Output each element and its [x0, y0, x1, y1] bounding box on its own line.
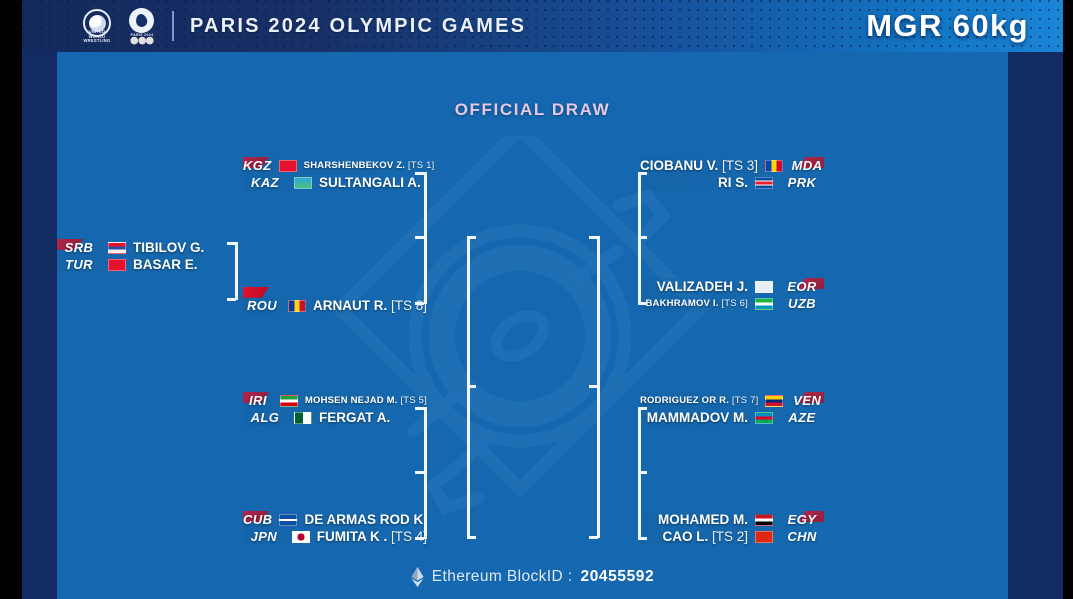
flag-icon [288, 300, 306, 312]
competitor-row[interactable]: EOR VALIZADEH J. [640, 278, 824, 295]
seed-tag: [TS 7] [732, 395, 759, 406]
bracket-connector-tick [467, 236, 476, 239]
olympic-rings-icon: ⚪⚪⚪ [126, 38, 158, 45]
bracket-connector-tick [415, 537, 424, 540]
athlete-name: SULTANGALI A. [319, 175, 421, 190]
footer-blockid: Ethereum BlockID : 20455592 [57, 567, 1008, 587]
bracket-connector-tick [638, 537, 647, 540]
noc-code: IRI [243, 393, 273, 408]
bracket-connector [424, 172, 427, 304]
noc-code: EOR [780, 279, 824, 294]
bracket-connector-tick [415, 407, 424, 410]
match-card-l1[interactable]: KGZ SHARSHENBEKOV Z. [TS 1] KAZ SULTANGA… [243, 157, 427, 191]
athlete-name: ARNAUT R. [313, 298, 387, 313]
bracket-connector-tick [467, 536, 476, 539]
bracket-connector-tick [589, 236, 598, 239]
athlete-name: CAO L. [662, 529, 708, 544]
noc-code: ALG [243, 410, 287, 425]
competitor-row[interactable]: EGY MOHAMED M. [640, 511, 824, 528]
bracket-connector-tick [415, 471, 424, 474]
athlete-name: VALIZADEH J. [657, 279, 748, 294]
athlete-name: DE ARMAS ROD K. [304, 512, 427, 527]
noc-code: TUR [57, 257, 101, 272]
athlete-name: BAKHRAMOV I. [645, 298, 718, 309]
flag-icon [755, 531, 773, 543]
uww-logo-caption: UNITED WORLD WRESTLING [80, 30, 114, 44]
ethereum-diamond-icon [411, 567, 424, 587]
flag-icon [279, 514, 297, 526]
noc-code: ROU [243, 298, 281, 313]
competitor-row[interactable]: AZE MAMMADOV M. [640, 409, 824, 426]
flag-icon [765, 160, 783, 172]
blockid-label: Ethereum BlockID : [432, 568, 573, 586]
athlete-name: RODRIGUEZ OR R. [640, 395, 729, 406]
match-card-l2[interactable]: SRB TIBILOV G. TUR BASAR E. [57, 239, 241, 273]
athlete-name: FUMITA K . [317, 529, 388, 544]
seed-tag: [TS 6] [721, 298, 748, 309]
competitor-row[interactable]: PRK RI S. [640, 174, 824, 191]
seed-tag: [TS 3] [722, 158, 758, 173]
seed-tag: [TS 5] [400, 395, 427, 406]
seed-tag: [TS 8] [391, 298, 427, 313]
paris-2024-watermark [318, 136, 748, 536]
athlete-name: MAMMADOV M. [647, 410, 748, 425]
athlete-name: SHARSHENBEKOV Z. [304, 160, 405, 171]
bracket-connector-tick [638, 172, 647, 175]
match-card-r4[interactable]: EGY MOHAMED M. CHN CAO L. [TS 2] [640, 511, 824, 545]
competitor-row[interactable]: ROU ARNAUT R. [TS 8] [243, 297, 427, 314]
flag-icon [294, 177, 312, 189]
flag-icon [755, 514, 773, 526]
flag-icon [765, 395, 783, 407]
bracket-connector-tick [638, 236, 647, 239]
athlete-name: TIBILOV G. [133, 240, 204, 255]
event-title: PARIS 2024 OLYMPIC GAMES [190, 15, 526, 38]
athlete-name: FERGAT A. [319, 410, 390, 425]
weight-class-title: MGR 60kg [866, 8, 1041, 44]
match-card-l5[interactable]: CUB DE ARMAS ROD K. JPN FUMITA K . [TS 4… [243, 511, 427, 545]
flag-icon [755, 298, 773, 310]
flag-icon [755, 281, 773, 293]
seed-tag: [TS 1] [408, 160, 435, 171]
noc-code: PRK [780, 175, 824, 190]
competitor-row[interactable]: JPN FUMITA K . [TS 4] [243, 528, 427, 545]
noc-code: EGY [780, 512, 824, 527]
competitor-row[interactable]: KAZ SULTANGALI A. [243, 174, 427, 191]
paris-2024-logo-icon: PARIS 2024 ⚪⚪⚪ [126, 8, 158, 44]
noc-code: KAZ [243, 175, 287, 190]
noc-code: CUB [243, 512, 272, 527]
competitor-row[interactable]: VEN RODRIGUEZ OR R. [TS 7] [640, 392, 824, 409]
match-card-r2[interactable]: EOR VALIZADEH J. UZB BAKHRAMOV I. [TS 6] [640, 278, 824, 312]
bracket-connector-tick [638, 407, 647, 410]
competitor-row[interactable]: MDA CIOBANU V. [TS 3] [640, 157, 824, 174]
bracket-connector-tick [227, 298, 236, 301]
page-title: OFFICIAL DRAW [57, 100, 1008, 120]
flag-icon [108, 259, 126, 271]
noc-code: CHN [780, 529, 824, 544]
flag-icon [755, 412, 773, 424]
competitor-row[interactable]: ALG FERGAT A. [243, 409, 427, 426]
noc-code: AZE [780, 410, 824, 425]
flag-icon [292, 531, 310, 543]
match-card-r3[interactable]: VEN RODRIGUEZ OR R. [TS 7] AZE MAMMADOV … [640, 392, 824, 426]
noc-code: JPN [243, 529, 285, 544]
paris-logo-caption: PARIS 2024 [126, 33, 158, 37]
bracket-connector [235, 242, 238, 300]
bracket-connector-tick [415, 302, 424, 305]
bracket-connector-tick [227, 242, 236, 245]
noc-code: MDA [790, 158, 824, 173]
match-card-r1[interactable]: MDA CIOBANU V. [TS 3] PRK RI S. [640, 157, 824, 191]
competitor-row[interactable]: KGZ SHARSHENBEKOV Z. [TS 1] [243, 157, 427, 174]
flag-icon [280, 395, 298, 407]
athlete-name: MOHAMED M. [658, 512, 748, 527]
screen-letterbox: UNITED WORLD WRESTLING PARIS 2024 ⚪⚪⚪ PA… [0, 0, 1073, 599]
bracket-connector-tick [638, 302, 647, 305]
flag-icon [108, 242, 126, 254]
bracket-connector-tick [415, 172, 424, 175]
competitor-row[interactable]: TUR BASAR E. [57, 256, 241, 273]
athlete-name: BASAR E. [133, 257, 198, 272]
header-divider [172, 11, 174, 41]
competitor-row[interactable]: IRI MOHSEN NEJAD M. [TS 5] [243, 392, 427, 409]
athlete-name: RI S. [718, 175, 748, 190]
match-card-l4[interactable]: IRI MOHSEN NEJAD M. [TS 5] ALG FERGAT A. [243, 392, 427, 426]
bracket-connector-tick [467, 385, 476, 388]
blockid-value: 20455592 [580, 568, 654, 586]
competitor-row[interactable]: CUB DE ARMAS ROD K. [243, 511, 427, 528]
bracket-connector-tick [638, 471, 647, 474]
match-card-l3[interactable]: ROU ARNAUT R. [TS 8] [243, 287, 427, 314]
noc-code: SRB [57, 240, 101, 255]
noc-code: VEN [790, 393, 824, 408]
draw-board: OFFICIAL DRAW KGZ SHARSHENBEKOV Z. [TS 1… [57, 52, 1008, 599]
seed-tag: [TS 2] [712, 529, 748, 544]
competitor-row[interactable]: CHN CAO L. [TS 2] [640, 528, 824, 545]
bracket-connector-tick [589, 385, 598, 388]
bracket-connector [424, 407, 427, 539]
bracket-connector-tick [415, 236, 424, 239]
noc-code: UZB [780, 296, 824, 311]
page-header: UNITED WORLD WRESTLING PARIS 2024 ⚪⚪⚪ PA… [22, 0, 1063, 52]
united-world-wrestling-logo-icon: UNITED WORLD WRESTLING [80, 9, 114, 43]
flag-icon [279, 160, 297, 172]
competitor-row[interactable]: SRB TIBILOV G. [57, 239, 241, 256]
competitor-row[interactable]: UZB BAKHRAMOV I. [TS 6] [640, 295, 824, 312]
flag-icon [755, 177, 773, 189]
noc-code: KGZ [243, 158, 272, 173]
flag-icon [294, 412, 312, 424]
bracket-connector-tick [589, 536, 598, 539]
athlete-name: CIOBANU V. [640, 158, 718, 173]
athlete-name: MOHSEN NEJAD M. [305, 395, 398, 406]
